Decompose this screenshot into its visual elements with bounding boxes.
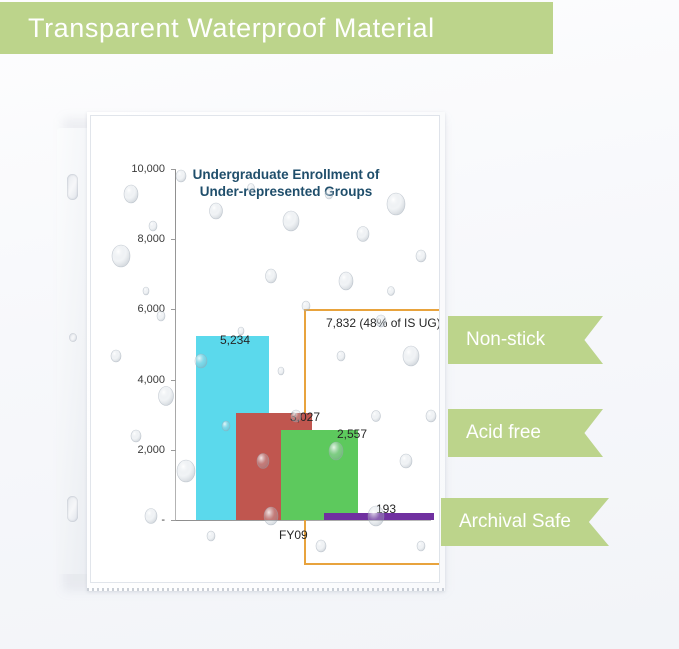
ribbon-archival-safe: Archival Safe — [441, 498, 609, 546]
headline-text: Transparent Waterproof Material — [28, 13, 435, 44]
bar-label-series-3: 2,557 — [337, 427, 367, 441]
y-tick-0: - — [105, 514, 165, 526]
ribbon-acid-free: Acid free — [448, 409, 603, 457]
document-page: Undergraduate Enrollment of Under-repres… — [91, 116, 439, 582]
x-axis-label: FY09 — [279, 528, 308, 542]
clear-sleeve: Undergraduate Enrollment of Under-repres… — [87, 112, 445, 591]
sheet-protector: Undergraduate Enrollment of Under-repres… — [57, 112, 445, 591]
headline-banner: Transparent Waterproof Material — [0, 2, 553, 54]
binder-hole-middle-icon — [69, 333, 77, 342]
ribbon-label-archival-safe: Archival Safe — [459, 511, 571, 533]
y-tick-10000: 10,000 — [105, 163, 165, 175]
ribbon-non-stick: Non-stick — [448, 316, 603, 364]
plot-area: 7,832 (48% of IS UG) 5,234 3,027 2,557 1… — [176, 169, 431, 520]
total-annotation: 7,832 (48% of IS UG) — [326, 316, 439, 330]
binder-hole-bottom-icon — [67, 496, 78, 522]
bar-label-series-1: 5,234 — [220, 333, 250, 347]
y-tick-8000: 8,000 — [105, 233, 165, 245]
y-tickmark-0 — [171, 520, 176, 521]
y-tick-4000: 4,000 — [105, 374, 165, 386]
product-marketing-image: Transparent Waterproof Material Undergra… — [0, 0, 679, 649]
bar-label-series-4: 193 — [376, 502, 396, 516]
y-axis-tick-labels: - 2,000 4,000 6,000 8,000 10,000 — [103, 116, 165, 582]
y-tick-2000: 2,000 — [105, 444, 165, 456]
bar-series-3 — [281, 430, 358, 520]
bar-label-series-2: 3,027 — [290, 410, 320, 424]
binder-hole-top-icon — [67, 174, 78, 200]
ribbon-label-acid-free: Acid free — [466, 422, 541, 444]
ribbon-label-non-stick: Non-stick — [466, 329, 545, 351]
y-tick-6000: 6,000 — [105, 303, 165, 315]
bar-chart: Undergraduate Enrollment of Under-repres… — [91, 116, 439, 582]
